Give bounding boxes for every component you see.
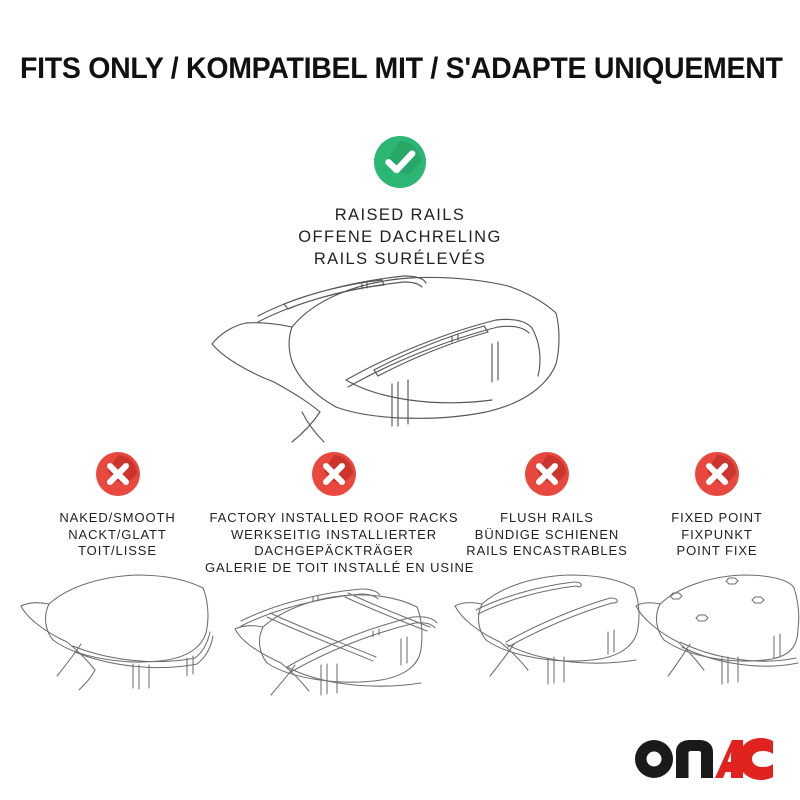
check-circle-icon <box>374 136 426 188</box>
incompatible-labels: NAKED/SMOOTH NACKT/GLATT TOIT/LISSE <box>15 510 220 560</box>
omac-logo <box>635 738 775 780</box>
incompatible-labels: FACTORY INSTALLED ROOF RACKS WERKSEITIG … <box>205 510 463 577</box>
label-line-fr: RAILS ENCASTRABLES <box>452 543 642 560</box>
incompatible-item-factory-roof-racks: FACTORY INSTALLED ROOF RACKS WERKSEITIG … <box>205 452 463 701</box>
label-line-fr: POINT FIXE <box>634 543 800 560</box>
car-roof-fixed-point-illustration <box>634 566 800 688</box>
x-mark-icon <box>96 452 140 496</box>
incompatible-labels: FIXED POINT FIXPUNKT POINT FIXE <box>634 510 800 560</box>
omac-wordmark <box>635 738 775 780</box>
logo-letter-m <box>676 740 713 778</box>
label-line-fr: TOIT/LISSE <box>15 543 220 560</box>
x-circle-icon <box>525 452 569 496</box>
x-mark-icon <box>525 452 569 496</box>
compatible-label-en: RAISED RAILS <box>0 205 800 227</box>
x-circle-icon <box>695 452 739 496</box>
label-line-en: NAKED/SMOOTH <box>15 510 220 527</box>
label-line-de-1: WERKSEITIG INSTALLIERTER <box>205 527 463 544</box>
label-line-de: FIXPUNKT <box>634 527 800 544</box>
incompatible-section: NAKED/SMOOTH NACKT/GLATT TOIT/LISSE <box>0 452 800 682</box>
page-title: FITS ONLY / KOMPATIBEL MIT / S'ADAPTE UN… <box>20 52 780 86</box>
label-line-en: FLUSH RAILS <box>452 510 642 527</box>
logo-letter-a <box>715 740 743 778</box>
x-mark-icon <box>312 452 356 496</box>
x-mark-icon <box>695 452 739 496</box>
car-roof-flush-rails-illustration <box>452 566 642 688</box>
x-circle-icon <box>96 452 140 496</box>
label-line-de-2: DACHGEPÄCKTRÄGER <box>205 543 463 560</box>
label-line-fr: GALERIE DE TOIT INSTALLÉ EN USINE <box>205 560 463 577</box>
compatible-section: RAISED RAILS OFFENE DACHRELING RAILS SUR… <box>0 136 800 271</box>
incompatible-item-naked-smooth: NAKED/SMOOTH NACKT/GLATT TOIT/LISSE <box>15 452 220 691</box>
car-roof-factory-rack-illustration <box>205 583 463 701</box>
incompatible-labels: FLUSH RAILS BÜNDIGE SCHIENEN RAILS ENCAS… <box>452 510 642 560</box>
label-line-en: FIXED POINT <box>634 510 800 527</box>
check-mark-icon <box>374 136 426 188</box>
compatible-labels: RAISED RAILS OFFENE DACHRELING RAILS SUR… <box>0 205 800 271</box>
logo-letter-o <box>635 740 673 778</box>
header: FITS ONLY / KOMPATIBEL MIT / S'ADAPTE UN… <box>0 52 800 86</box>
compatible-label-fr: RAILS SURÉLEVÉS <box>0 249 800 271</box>
fitment-infographic: FITS ONLY / KOMPATIBEL MIT / S'ADAPTE UN… <box>0 0 800 800</box>
x-circle-icon <box>312 452 356 496</box>
label-line-en: FACTORY INSTALLED ROOF RACKS <box>205 510 463 527</box>
logo-letter-c <box>739 738 773 780</box>
car-roof-naked-illustration <box>15 566 220 691</box>
compatible-label-de: OFFENE DACHRELING <box>0 227 800 249</box>
incompatible-item-flush-rails: FLUSH RAILS BÜNDIGE SCHIENEN RAILS ENCAS… <box>452 452 642 688</box>
incompatible-item-fixed-point: FIXED POINT FIXPUNKT POINT FIXE <box>634 452 800 688</box>
label-line-de: BÜNDIGE SCHIENEN <box>452 527 642 544</box>
car-roof-raised-rails-illustration <box>196 272 616 447</box>
label-line-de: NACKT/GLATT <box>15 527 220 544</box>
